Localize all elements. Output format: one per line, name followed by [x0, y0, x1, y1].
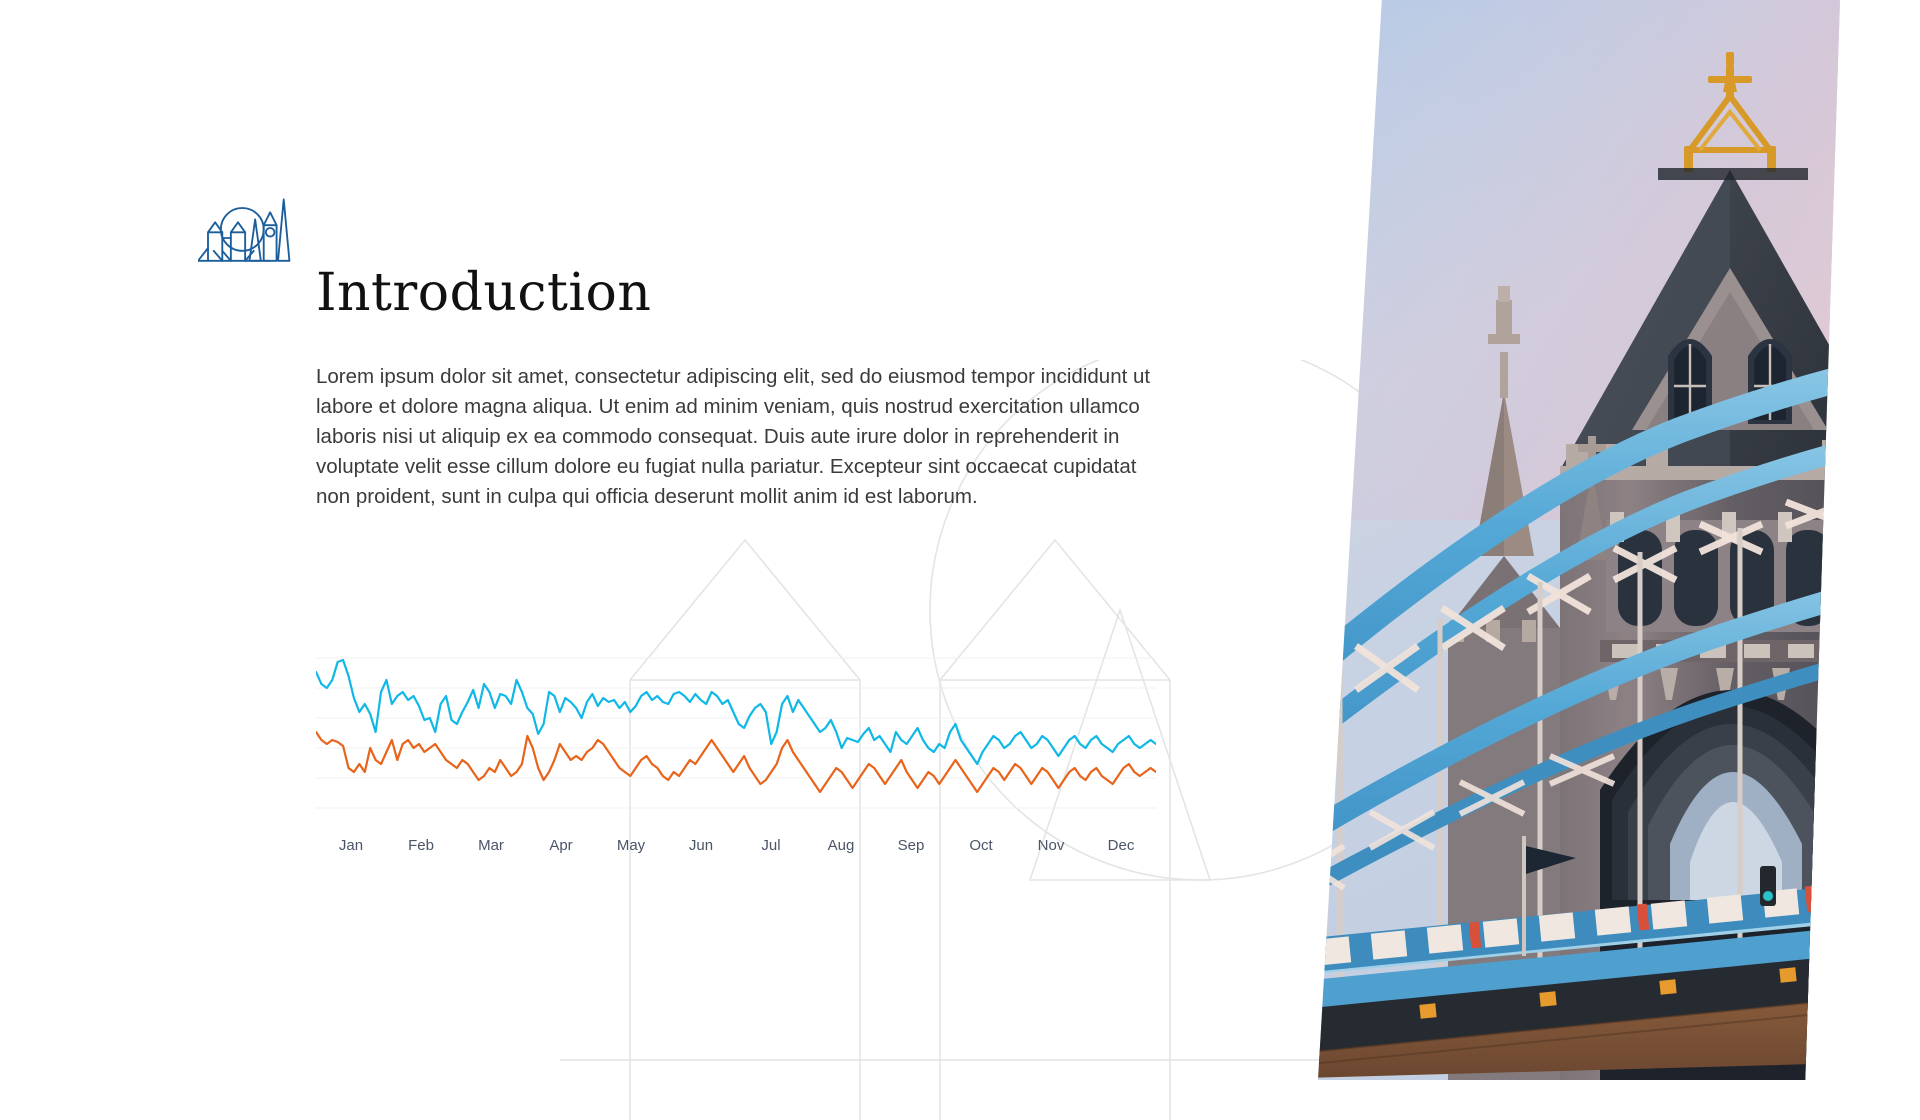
photo-traffic-light — [1760, 866, 1776, 906]
london-skyline-icon — [198, 192, 298, 264]
photo-flag — [1522, 836, 1576, 956]
page-title: Introduction — [316, 265, 651, 322]
chart-x-tick-sep: Sep — [876, 830, 946, 870]
chart-x-tick-aug: Aug — [806, 830, 876, 870]
chart-gridlines — [316, 658, 1156, 808]
chart-x-tick-jun: Jun — [666, 830, 736, 870]
photo-sky-warm — [1300, 0, 1920, 520]
chart-x-tick-apr: Apr — [526, 830, 596, 870]
chart-x-tick-feb: Feb — [386, 830, 456, 870]
logo-shard — [249, 219, 260, 260]
photo-lattice-upper — [1300, 482, 1920, 738]
photo-upper-windows — [1600, 512, 1862, 662]
photo-deck — [1300, 874, 1920, 1080]
tower-bridge-illustration — [1300, 0, 1920, 1080]
body-paragraph: Lorem ipsum dolor sit amet, consectetur … — [316, 362, 1156, 512]
chart-series-group — [316, 660, 1156, 792]
logo-bigben-clock — [266, 228, 275, 237]
photo-lamps — [1300, 955, 1917, 1030]
chart-x-tick-jul: Jul — [736, 830, 806, 870]
logo-bridge-tower-right-roof — [231, 222, 245, 232]
photo-sky — [1300, 0, 1920, 1080]
photo-suspension-lower — [1300, 566, 1920, 932]
photo-hangers-upper — [1340, 506, 1840, 980]
chart-plot-area — [316, 628, 1156, 828]
photo-gable — [1632, 268, 1828, 430]
chart-x-tick-dec: Dec — [1086, 830, 1156, 870]
chart-x-axis: JanFebMarAprMayJunJulAugSepOctNovDec — [316, 830, 1156, 870]
photo-turret — [1448, 286, 1560, 1080]
chart-x-tick-oct: Oct — [946, 830, 1016, 870]
photo-suspension-upper — [1300, 352, 1920, 980]
logo-bigben-roof — [264, 212, 277, 225]
chart-x-tick-jan: Jan — [316, 830, 386, 870]
chart-x-tick-may: May — [596, 830, 666, 870]
photo-clip-shape — [1300, 0, 1920, 1080]
photo-small-spire — [1576, 436, 1608, 560]
tower-bridge-photo — [1300, 0, 1920, 1080]
photo-arch — [1600, 690, 1868, 1080]
logo-spire — [278, 199, 289, 260]
logo-bridge-tower-right — [231, 232, 245, 261]
photo-railing — [1300, 874, 1920, 980]
line-chart: JanFebMarAprMayJunJulAugSepOctNovDec — [316, 628, 1156, 888]
logo-bridge-tower-left — [208, 232, 222, 261]
chart-line-series-2 — [316, 732, 1156, 792]
chart-x-tick-mar: Mar — [456, 830, 526, 870]
chart-x-tick-nov: Nov — [1016, 830, 1086, 870]
photo-corbels — [1604, 668, 1846, 700]
photo-main-tower — [1560, 52, 1900, 1080]
photo-gold-finial — [1684, 52, 1776, 172]
photo-crenellations — [1560, 436, 1880, 480]
